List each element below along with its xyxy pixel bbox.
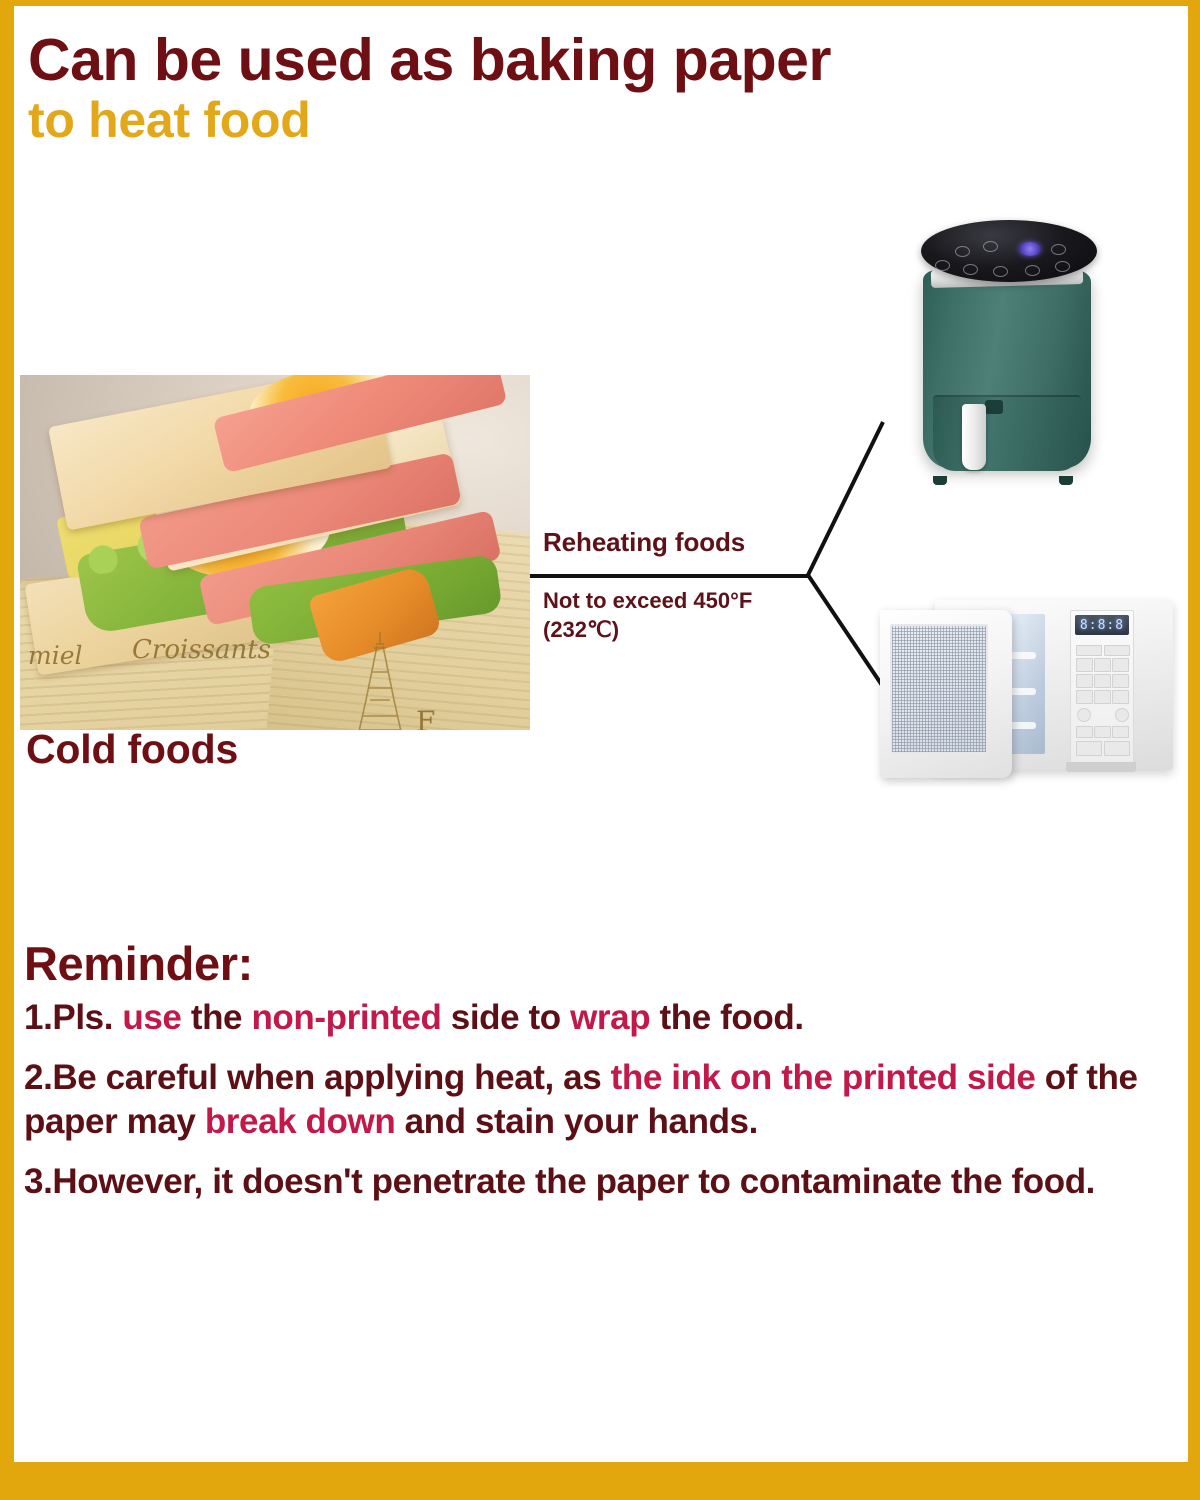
microwave-dial-right[interactable] xyxy=(1115,708,1129,722)
reminder-item-2: 2.Be careful when applying heat, as the … xyxy=(24,1056,1164,1144)
frame-border-right xyxy=(1188,0,1200,1500)
infographic-page: Can be used as baking paper to heat food… xyxy=(0,0,1200,1500)
microwave-button-6[interactable] xyxy=(1076,674,1093,688)
reheating-divider-line xyxy=(530,574,808,578)
reminder-item-3: 3.However, it doesn't penetrate the pape… xyxy=(24,1160,1164,1204)
microwave-button-10[interactable] xyxy=(1094,690,1111,704)
reminder-highlight-text: non-printed xyxy=(251,998,441,1037)
microwave-illustration: 8:8:8 xyxy=(880,592,1180,792)
reminder-item-number: 1. xyxy=(24,998,52,1037)
microwave-button-4[interactable] xyxy=(1094,658,1111,672)
air-fryer-preset-icon-1 xyxy=(955,246,970,257)
microwave-button-9[interactable] xyxy=(1076,690,1093,704)
frame-border-left xyxy=(0,0,14,1500)
air-fryer-handle xyxy=(962,404,986,470)
microwave-button-7[interactable] xyxy=(1094,674,1111,688)
microwave-led-display: 8:8:8 xyxy=(1075,615,1129,635)
wrapper-word-f: F xyxy=(416,705,435,730)
eiffel-tower-icon xyxy=(350,630,410,730)
frame-border-bottom xyxy=(0,1462,1200,1500)
microwave-door[interactable] xyxy=(880,610,1012,778)
reminder-highlight-text: wrap xyxy=(570,998,650,1037)
microwave-button-8[interactable] xyxy=(1112,674,1129,688)
cold-food-photo: miel Croissants F xyxy=(20,375,530,730)
reminder-item-1: 1.Pls. use the non-printed side to wrap … xyxy=(24,996,1164,1040)
microwave-dial-left[interactable] xyxy=(1077,708,1091,722)
microwave-stop-button[interactable] xyxy=(1076,741,1102,756)
air-fryer-foot-right xyxy=(1059,476,1073,485)
frame-border-top xyxy=(0,0,1200,6)
air-fryer-drawer xyxy=(933,395,1081,471)
wrapper-word-croissants: Croissants xyxy=(132,635,271,665)
microwave-button-13[interactable] xyxy=(1094,726,1111,738)
cold-foods-label: Cold foods xyxy=(26,726,238,773)
reminder-text: Be careful when applying heat, as xyxy=(52,1058,610,1097)
reminder-item-number: 3. xyxy=(24,1162,52,1201)
reminder-title: Reminder: xyxy=(24,936,253,991)
microwave-button-2[interactable] xyxy=(1104,645,1130,656)
headline-line-2: to heat food xyxy=(28,93,1128,148)
air-fryer-display xyxy=(1019,242,1041,256)
reminder-text: Pls. xyxy=(52,998,122,1037)
reminder-list: 1.Pls. use the non-printed side to wrap … xyxy=(24,996,1164,1220)
microwave-base-trim xyxy=(1066,762,1136,772)
wrapper-word-miel: miel xyxy=(28,641,83,670)
reminder-text: the xyxy=(182,998,252,1037)
air-fryer-control-panel xyxy=(921,220,1097,282)
reminder-item-number: 2. xyxy=(24,1058,52,1097)
air-fryer-preset-icon-5 xyxy=(963,264,978,275)
air-fryer-preset-icon-7 xyxy=(1025,265,1040,276)
air-fryer-preset-icon-2 xyxy=(983,241,998,252)
reminder-highlight-text: use xyxy=(122,998,181,1037)
microwave-control-panel[interactable]: 8:8:8 xyxy=(1070,610,1134,764)
headline-block: Can be used as baking paper to heat food xyxy=(28,30,1128,148)
microwave-button-5[interactable] xyxy=(1112,658,1129,672)
air-fryer-preset-icon-6 xyxy=(993,266,1008,277)
microwave-button-14[interactable] xyxy=(1112,726,1129,738)
reheating-foods-label: Reheating foods xyxy=(543,527,745,558)
microwave-button-1[interactable] xyxy=(1076,645,1102,656)
air-fryer-preset-icon-8 xyxy=(1055,261,1070,272)
air-fryer-handle-bracket xyxy=(985,400,1003,414)
microwave-button-12[interactable] xyxy=(1076,726,1093,738)
microwave-window-mesh xyxy=(890,624,988,754)
microwave-button-11[interactable] xyxy=(1112,690,1129,704)
headline-line-1: Can be used as baking paper xyxy=(28,30,1128,91)
air-fryer-preset-icon-4 xyxy=(935,260,950,271)
reminder-text: However, it doesn't penetrate the paper … xyxy=(52,1162,1095,1201)
air-fryer-foot-left xyxy=(933,476,947,485)
air-fryer-illustration xyxy=(915,210,1105,485)
microwave-button-3[interactable] xyxy=(1076,658,1093,672)
reminder-text: the food. xyxy=(650,998,803,1037)
branch-line-to-air-fryer xyxy=(808,422,883,575)
air-fryer-preset-icon-3 xyxy=(1051,244,1066,255)
reminder-highlight-text: the ink on the printed side xyxy=(611,1058,1036,1097)
reminder-text: side to xyxy=(441,998,570,1037)
reminder-text: and stain your hands. xyxy=(395,1102,758,1141)
microwave-start-button[interactable] xyxy=(1104,741,1130,756)
reminder-highlight-text: break down xyxy=(205,1102,395,1141)
